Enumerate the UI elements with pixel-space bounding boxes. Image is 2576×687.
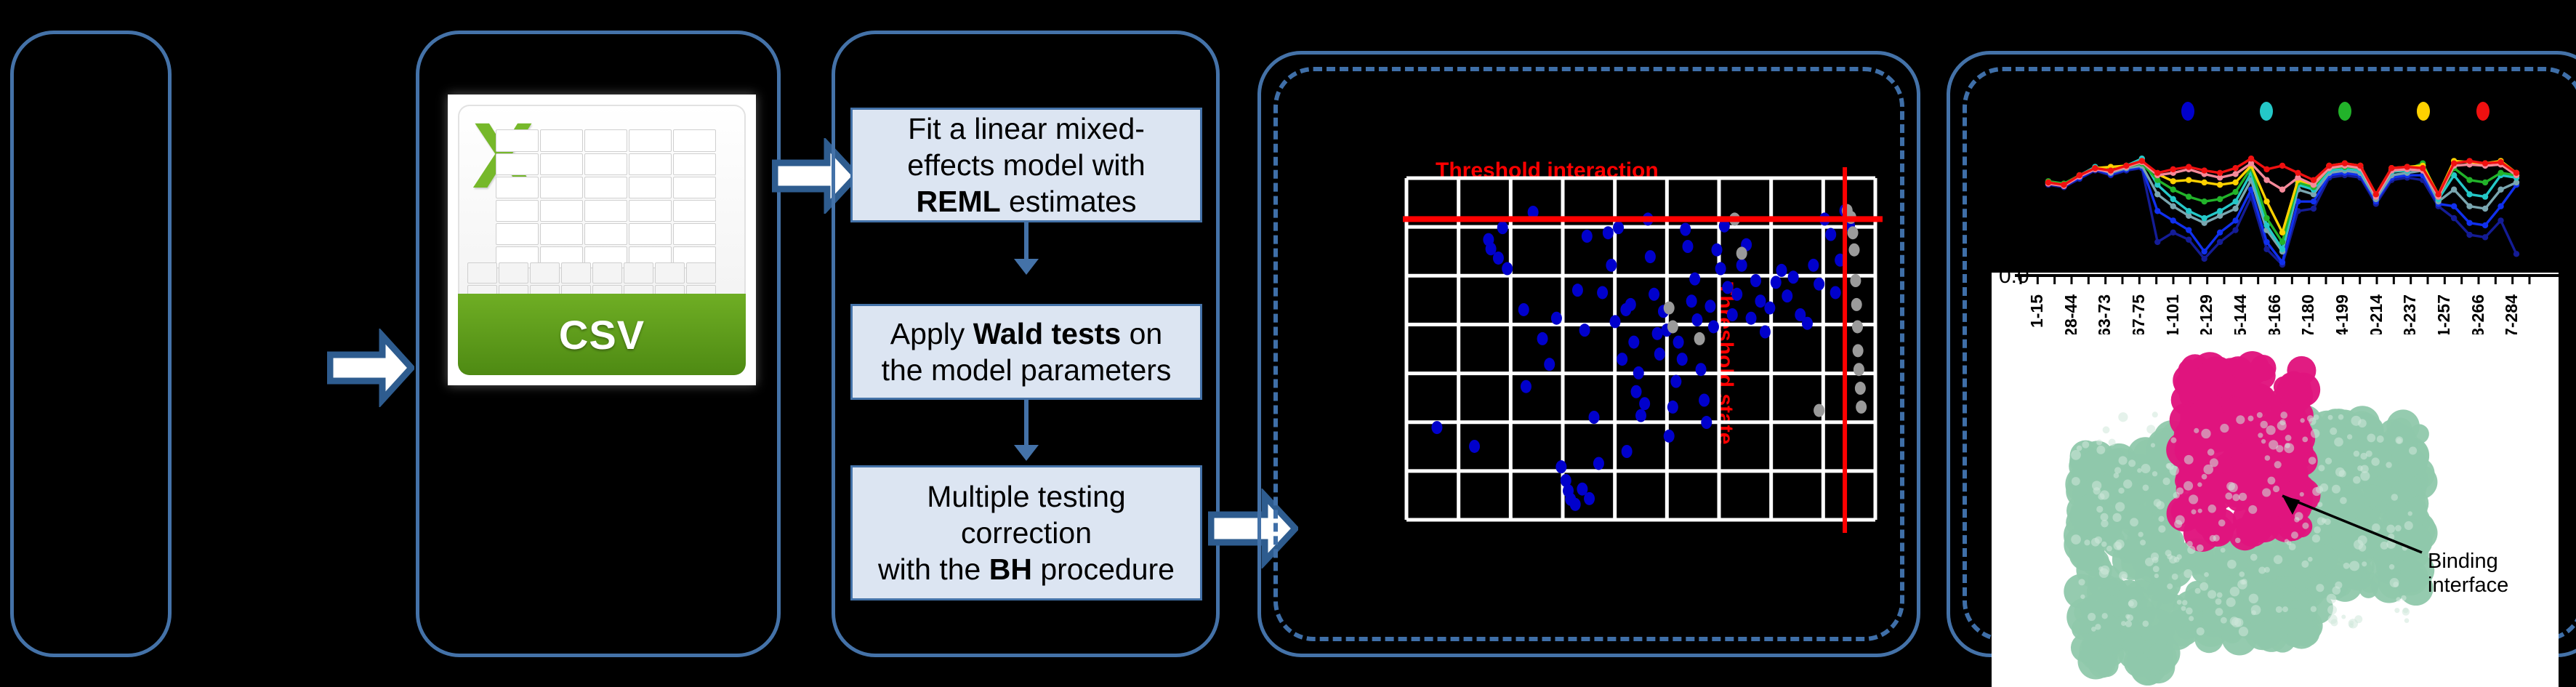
step-reml-text: Fit a linear mixed- effects model with R… [907,111,1145,220]
csv-format-band: CSV [458,294,746,375]
scatter-svg [1301,145,1883,553]
peptide-tick-label: 1-15 [2027,294,2047,328]
connector-1 [1024,222,1029,260]
legend-dot-red [2476,102,2490,121]
legend-dot-yellow [2417,102,2430,121]
legend-dot-blue [2181,102,2194,121]
legend-dot-green [2338,102,2351,121]
peptide-tick-label: 67-75 [2129,294,2149,337]
peptide-tick-label: 63-73 [2095,294,2114,337]
connector-2-arrowhead [1014,445,1039,461]
step-wald-box[interactable]: Apply Wald tests on the model parameters [850,304,1202,400]
connector-1-arrowhead [1014,259,1039,275]
csv-grid-main [495,129,717,269]
peptide-tick-label: 28-44 [2061,294,2081,337]
connector-2 [1024,400,1029,445]
input-panel [10,31,172,657]
peptide-lines-svg [2035,142,2529,273]
peptide-uptake-chart[interactable] [2035,142,2529,273]
csv-format-label: CSV [559,311,645,358]
csv-file-icon[interactable]: X CSV [448,95,756,385]
flow-arrow-1 [327,329,414,407]
step-reml-box[interactable]: Fit a linear mixed- effects model with R… [850,108,1202,222]
volcano-scatter[interactable]: Threshold interaction Threshold state [1301,145,1883,553]
binding-interface-annotation: Binding interface [2428,550,2508,598]
diagram-canvas: X CSV Fit a linear [0,0,2576,687]
step-bh-box[interactable]: Multiple testing correction with the BH … [850,465,1202,600]
step-wald-text: Apply Wald tests on the model parameters [882,316,1172,388]
protein-surface-figure[interactable]: Binding interface [1992,334,2559,687]
protein-surface-svg [1992,334,2559,687]
step-bh-text: Multiple testing correction with the BH … [878,478,1175,587]
legend-dot-cyan [2260,102,2273,121]
